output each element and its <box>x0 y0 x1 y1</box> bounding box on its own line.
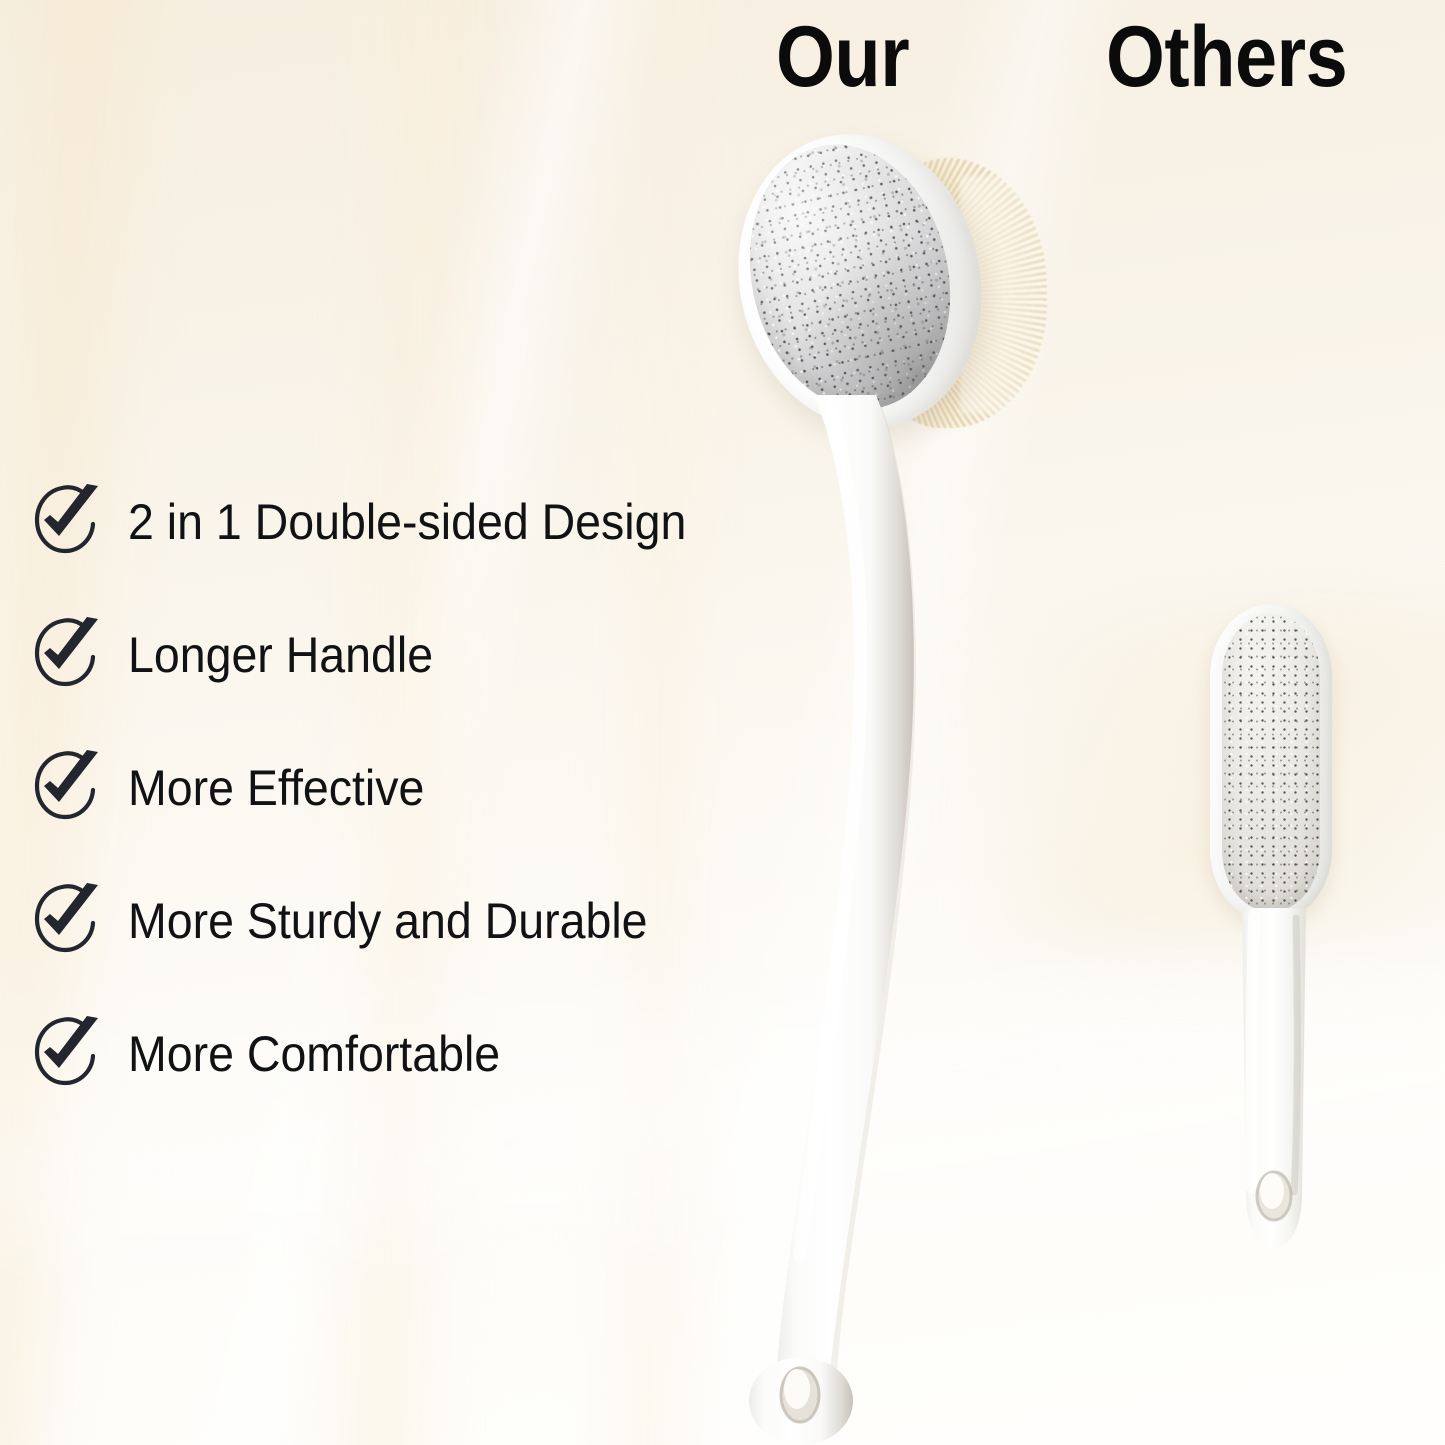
pumice-shading <box>724 124 975 429</box>
pumice-speckle-texture <box>724 124 975 429</box>
other-handle <box>1226 908 1322 1260</box>
check-circle-icon <box>28 484 106 560</box>
feature-list: 2 in 1 Double-sided Design Longer Handle… <box>28 486 728 1151</box>
bristle-tips <box>960 176 1052 414</box>
feature-label: More Effective <box>128 763 424 813</box>
header-our: Our <box>776 14 909 100</box>
check-circle-icon <box>28 750 106 826</box>
others-product-image <box>1180 590 1410 1280</box>
bristles <box>862 158 1047 428</box>
brush-handle <box>700 395 1000 1445</box>
feature-item: More Effective <box>28 752 728 824</box>
feature-item: More Comfortable <box>28 1018 728 1090</box>
check-circle-icon <box>28 1016 106 1092</box>
check-circle-icon <box>28 617 106 693</box>
background-light-streak <box>1000 620 1445 950</box>
feature-item: More Sturdy and Durable <box>28 885 728 957</box>
feature-item: 2 in 1 Double-sided Design <box>28 486 728 558</box>
header-others: Others <box>1106 14 1347 100</box>
other-pumice-speckle-texture <box>1222 614 1320 912</box>
feature-item: Longer Handle <box>28 619 728 691</box>
brush-head-frame <box>710 110 1010 452</box>
product-comparison-image: Our Others 2 in 1 Double-sided Design Lo… <box>0 0 1445 1445</box>
pumice-pad <box>724 124 975 429</box>
feature-label: 2 in 1 Double-sided Design <box>128 497 686 547</box>
feature-label: Longer Handle <box>128 630 433 680</box>
check-circle-icon <box>28 883 106 959</box>
other-pumice-pad <box>1222 614 1320 912</box>
feature-label: More Comfortable <box>128 1029 500 1079</box>
other-pad-frame <box>1210 604 1332 922</box>
feature-label: More Sturdy and Durable <box>128 896 648 946</box>
